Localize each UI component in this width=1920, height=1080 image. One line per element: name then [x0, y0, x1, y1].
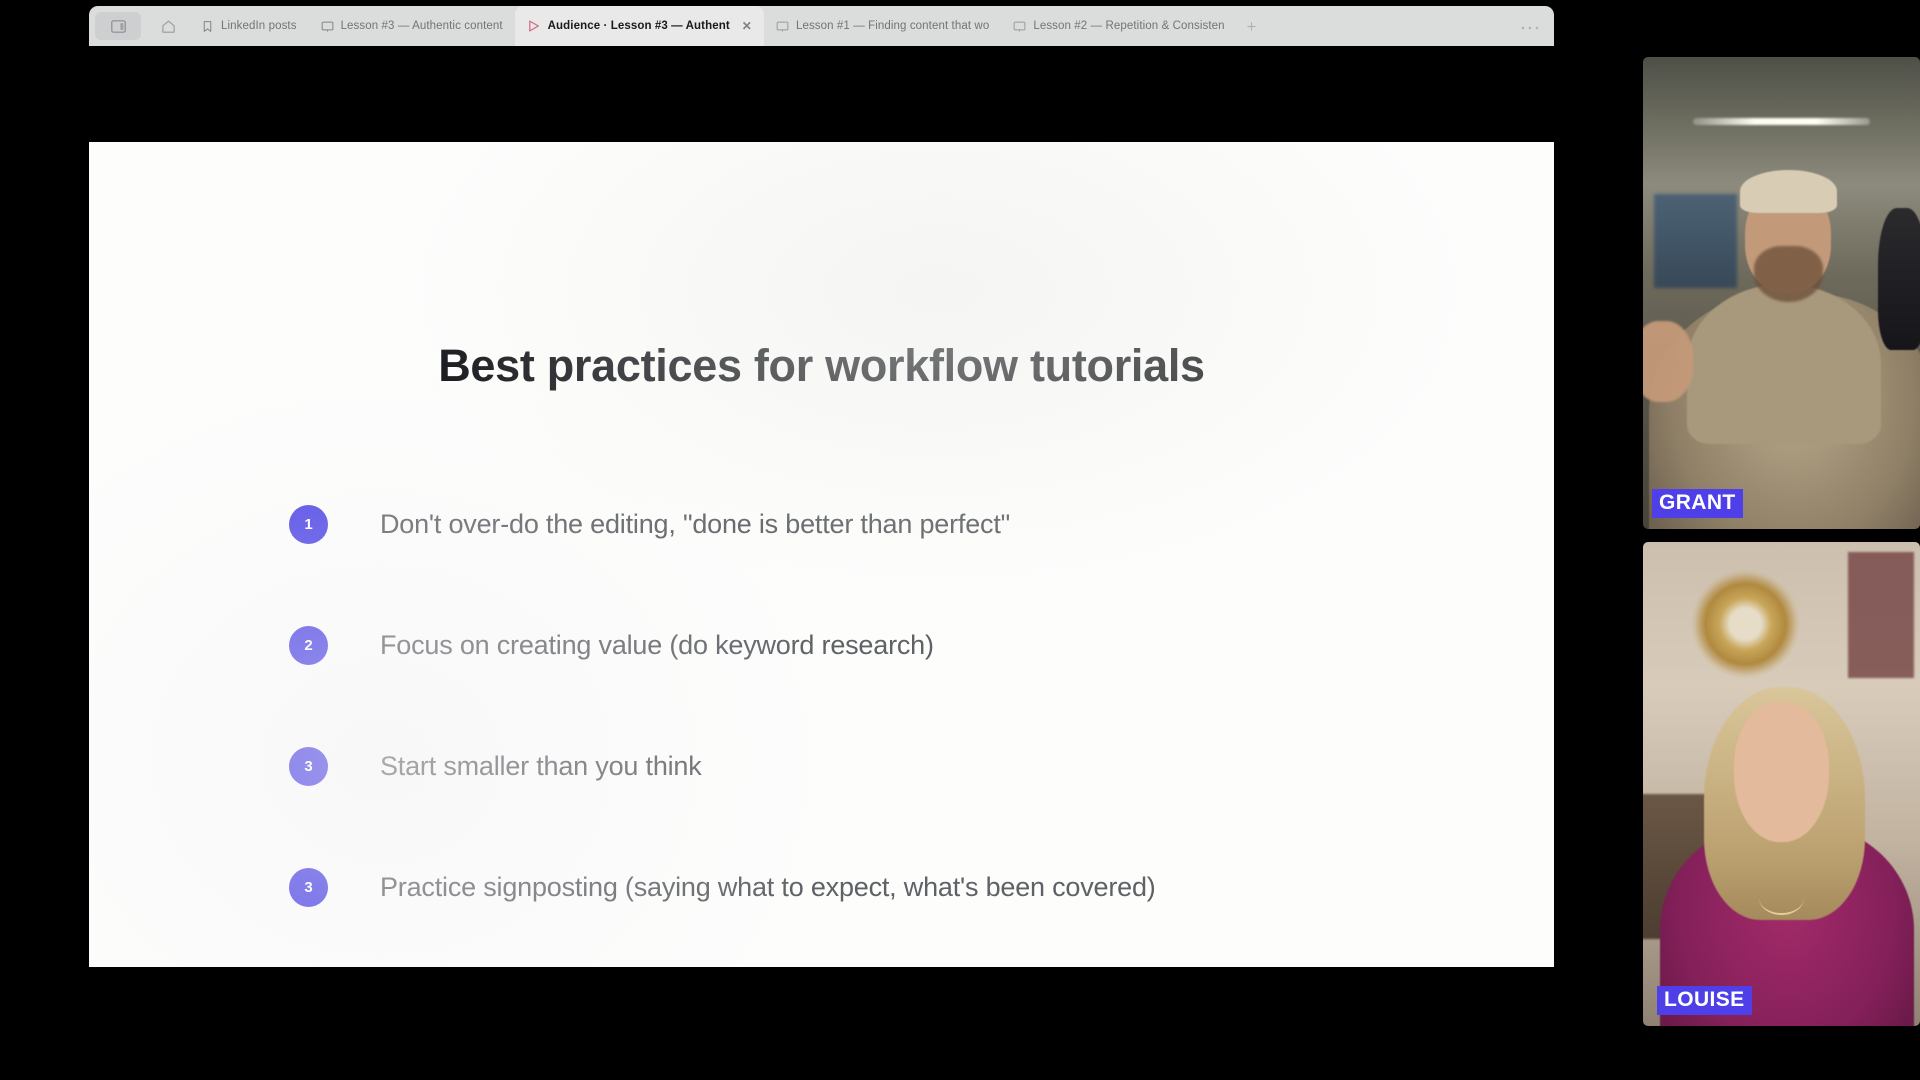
tab-linkedin-posts[interactable]: LinkedIn posts: [189, 6, 309, 46]
home-icon: [161, 19, 176, 34]
video-tile-grant[interactable]: GRANT: [1643, 57, 1920, 529]
tab-label: Lesson #2 — Repetition & Consisten: [1033, 20, 1224, 32]
participant-beard: [1754, 246, 1823, 303]
slide-title: Best practices for workflow tutorials: [89, 340, 1554, 392]
tab-label: Lesson #3 — Authentic content: [341, 20, 503, 32]
tab-label: Audience · Lesson #3 — Authent: [548, 20, 730, 32]
list-item: 3 Start smaller than you think: [289, 744, 1494, 789]
screen-root: LinkedIn posts Lesson #3 — Authentic con…: [0, 0, 1920, 1080]
slide-icon: [776, 20, 789, 33]
slide-bullet-list: 1 Don't over-do the editing, "done is be…: [289, 502, 1494, 967]
shared-browser-window: LinkedIn posts Lesson #3 — Authentic con…: [89, 6, 1554, 46]
more-horizontal-icon: [1520, 25, 1540, 31]
slide-icon: [321, 20, 334, 33]
bullet-number: 2: [289, 626, 328, 665]
video-feed-grant: [1643, 57, 1920, 529]
microphone: [1878, 208, 1920, 350]
tab-lesson-1-finding-content[interactable]: Lesson #1 — Finding content that wo: [764, 6, 1001, 46]
home-button[interactable]: [151, 12, 185, 40]
video-tile-louise[interactable]: LOUISE: [1643, 542, 1920, 1026]
presentation-slide: Best practices for workflow tutorials 1 …: [89, 142, 1554, 967]
tab-lesson-2-repetition-consistency[interactable]: Lesson #2 — Repetition & Consisten: [1001, 6, 1236, 46]
bullet-number: 3: [289, 747, 328, 786]
bookmark-icon: [201, 20, 214, 33]
bullet-text: Focus on creating value (do keyword rese…: [380, 630, 934, 661]
close-icon[interactable]: ✕: [742, 19, 752, 33]
participant-hand: [1643, 321, 1693, 401]
bullet-text: Practice signposting (saying what to exp…: [380, 872, 1156, 903]
play-icon: [527, 19, 541, 33]
necklace: [1759, 881, 1803, 915]
participant-head: [1734, 702, 1828, 842]
list-item: 2 Focus on creating value (do keyword re…: [289, 623, 1494, 668]
bullet-number: 1: [289, 505, 328, 544]
panel-toggle-button[interactable]: [95, 12, 141, 40]
bullet-number: 3: [289, 868, 328, 907]
more-options-button[interactable]: [1520, 18, 1540, 35]
plus-icon: [1245, 20, 1258, 33]
tab-label: LinkedIn posts: [221, 20, 297, 32]
panel-toggle-icon: [111, 20, 126, 33]
bullet-text: Don't over-do the editing, "done is bett…: [380, 509, 1010, 540]
new-tab-button[interactable]: [1237, 12, 1267, 40]
tab-label: Lesson #1 — Finding content that wo: [796, 20, 989, 32]
tab-bar: LinkedIn posts Lesson #3 — Authentic con…: [89, 6, 1554, 46]
slide-icon: [1013, 20, 1026, 33]
tab-lesson-3-authentic-content[interactable]: Lesson #3 — Authentic content: [309, 6, 515, 46]
background-panel: [1654, 194, 1737, 288]
list-item: 1 Don't over-do the editing, "done is be…: [289, 502, 1494, 547]
bullet-text: Start smaller than you think: [380, 751, 702, 782]
participant-name-label: LOUISE: [1657, 986, 1752, 1015]
video-feed-louise: [1643, 542, 1920, 1026]
ceiling-light: [1693, 118, 1870, 125]
tab-audience-lesson-3[interactable]: Audience · Lesson #3 — Authent ✕: [515, 6, 764, 46]
list-item: 3 Practice signposting (saying what to e…: [289, 865, 1494, 910]
wall-art: [1848, 552, 1914, 678]
sunburst-mirror: [1685, 561, 1807, 687]
participant-name-label: GRANT: [1652, 489, 1743, 518]
participant-hoodie: [1687, 284, 1881, 444]
participant-cap: [1740, 170, 1837, 212]
